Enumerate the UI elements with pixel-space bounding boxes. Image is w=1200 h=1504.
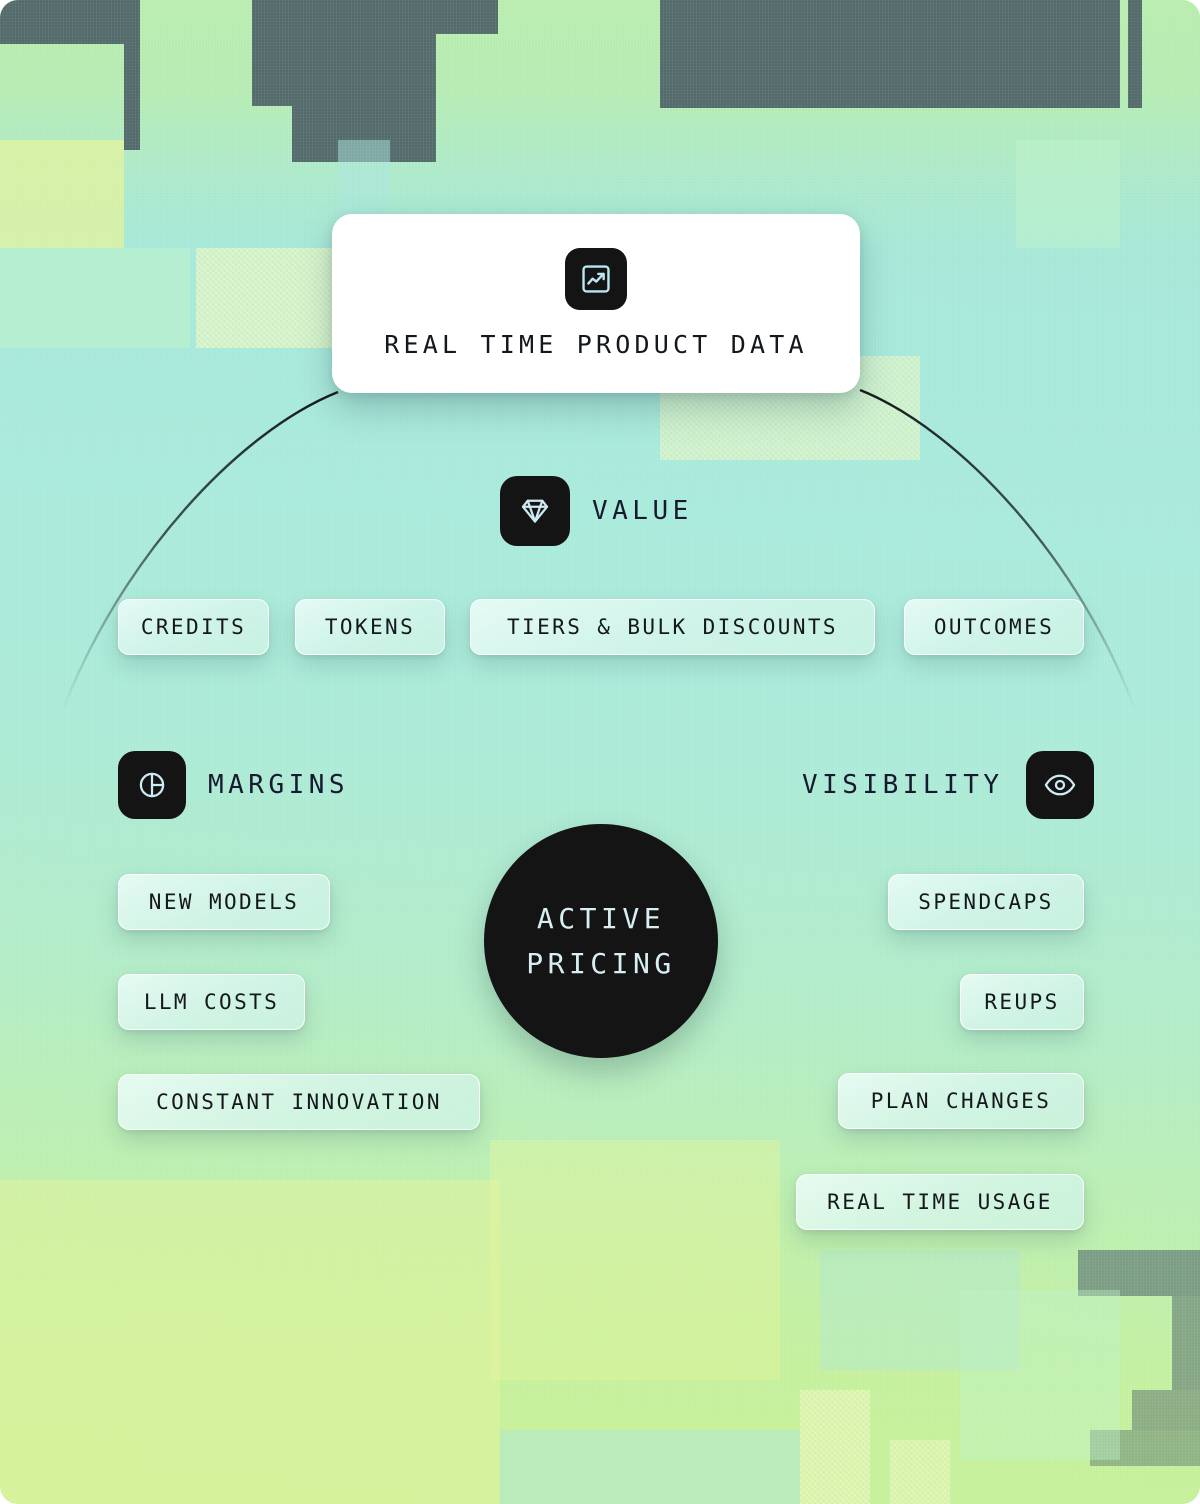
pill-tokens[interactable]: TOKENS xyxy=(295,599,445,655)
eye-icon xyxy=(1026,751,1094,819)
section-label-margins: MARGINS xyxy=(208,770,349,800)
pill-outcomes[interactable]: OUTCOMES xyxy=(904,599,1084,655)
pill-llm-costs[interactable]: LLM COSTS xyxy=(118,974,305,1030)
pill-credits[interactable]: CREDITS xyxy=(118,599,269,655)
hub-label-line1: ACTIVE xyxy=(537,896,665,941)
page-title: REAL TIME PRODUCT DATA xyxy=(384,330,808,359)
pill-real-time-usage[interactable]: REAL TIME USAGE xyxy=(796,1174,1084,1230)
header-card[interactable]: REAL TIME PRODUCT DATA xyxy=(332,214,860,393)
section-heading-margins: MARGINS xyxy=(118,751,349,819)
active-pricing-hub[interactable]: ACTIVE PRICING xyxy=(484,824,718,1058)
pie-chart-icon xyxy=(118,751,186,819)
diamond-gem-icon xyxy=(500,476,570,546)
pill-plan-changes[interactable]: PLAN CHANGES xyxy=(838,1073,1084,1129)
pill-new-models[interactable]: NEW MODELS xyxy=(118,874,330,930)
pill-reups[interactable]: REUPS xyxy=(960,974,1084,1030)
section-heading-value: VALUE xyxy=(500,476,693,546)
section-label-value: VALUE xyxy=(592,496,693,526)
section-label-visibility: VISIBILITY xyxy=(802,770,1004,800)
diagram-canvas: REAL TIME PRODUCT DATA VALUE CREDITS TOK… xyxy=(0,0,1200,1504)
pill-spendcaps[interactable]: SPENDCAPS xyxy=(888,874,1084,930)
pill-tiers-bulk-discounts[interactable]: TIERS & BULK DISCOUNTS xyxy=(470,599,875,655)
pill-constant-innovation[interactable]: CONSTANT INNOVATION xyxy=(118,1074,480,1130)
trending-up-chart-icon xyxy=(565,248,627,310)
section-heading-visibility: VISIBILITY xyxy=(802,751,1094,819)
hub-label-line2: PRICING xyxy=(526,941,676,986)
